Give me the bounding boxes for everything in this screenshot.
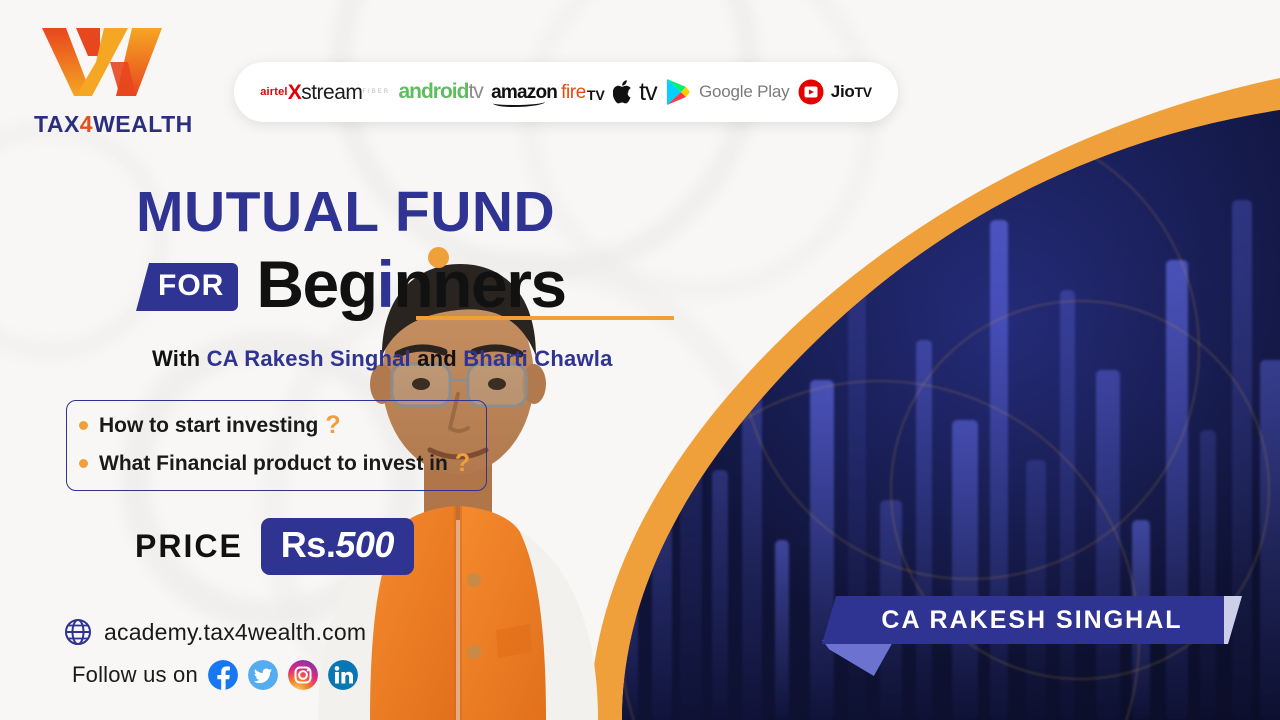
- facebook-icon[interactable]: [208, 660, 238, 690]
- bullet-dot-icon: [79, 459, 88, 468]
- platform-airtel-xstream: airtel Xstream FIBER: [260, 82, 390, 103]
- twitter-icon[interactable]: [248, 660, 278, 690]
- website-url[interactable]: academy.tax4wealth.com: [104, 619, 366, 646]
- logo-wordmark: TAX4WEALTH: [34, 111, 206, 138]
- presenter-name-ribbon: CA RAKESH SINGHAL: [822, 596, 1242, 644]
- price-block: PRICE Rs.500: [135, 518, 414, 575]
- brand-logo[interactable]: TAX4WEALTH: [26, 22, 206, 138]
- list-item: How to start investing ?: [79, 407, 470, 445]
- headline-line-1: MUTUAL FUND: [136, 184, 566, 241]
- platform-google-play: Google Play: [665, 78, 789, 106]
- question-mark-icon: ?: [325, 407, 340, 445]
- headline-block: MUTUAL FUND FOR Beginners: [136, 184, 566, 317]
- topics-list: How to start investing ? What Financial …: [66, 400, 487, 491]
- platform-jio-tv: JioTV: [798, 79, 872, 105]
- price-badge: Rs.500: [261, 518, 414, 575]
- list-item: What Financial product to invest in ?: [79, 445, 470, 483]
- instagram-icon[interactable]: [288, 660, 318, 690]
- platform-android-tv: androidtv: [398, 80, 482, 104]
- promo-banner: TAX4WEALTH airtel Xstream FIBER androidt…: [0, 0, 1280, 720]
- headline-beginners: Beginners: [256, 251, 565, 317]
- question-mark-icon: ?: [455, 445, 470, 483]
- for-badge: FOR: [136, 263, 238, 311]
- presenter-name-1: CA Rakesh Singhal: [207, 346, 411, 371]
- headline-line-2: FOR Beginners: [136, 251, 566, 317]
- google-play-icon: [665, 78, 691, 106]
- follow-label: Follow us on: [72, 662, 198, 688]
- price-label: PRICE: [135, 528, 243, 565]
- w-monogram-icon: [36, 22, 172, 104]
- globe-icon: [64, 618, 92, 646]
- platform-apple-tv: tv: [613, 78, 656, 107]
- platform-availability-strip: airtel Xstream FIBER androidtv amazon fi…: [234, 62, 898, 122]
- apple-icon: [613, 79, 635, 105]
- presenters-subtitle: With CA Rakesh Singhal and Bharti Chawla: [152, 346, 613, 372]
- bullet-dot-icon: [79, 421, 88, 430]
- linkedin-icon[interactable]: [328, 660, 358, 690]
- orange-underline-accent: [416, 316, 674, 320]
- presenter-name-2: Bharti Chawla: [463, 346, 612, 371]
- jiotv-icon: [798, 79, 824, 105]
- follow-row: Follow us on: [72, 660, 358, 690]
- platform-amazon-fire-tv: amazon fire TV: [491, 83, 605, 102]
- presenter-ribbon-name: CA RAKESH SINGHAL: [881, 606, 1182, 635]
- website-row[interactable]: academy.tax4wealth.com: [64, 618, 366, 646]
